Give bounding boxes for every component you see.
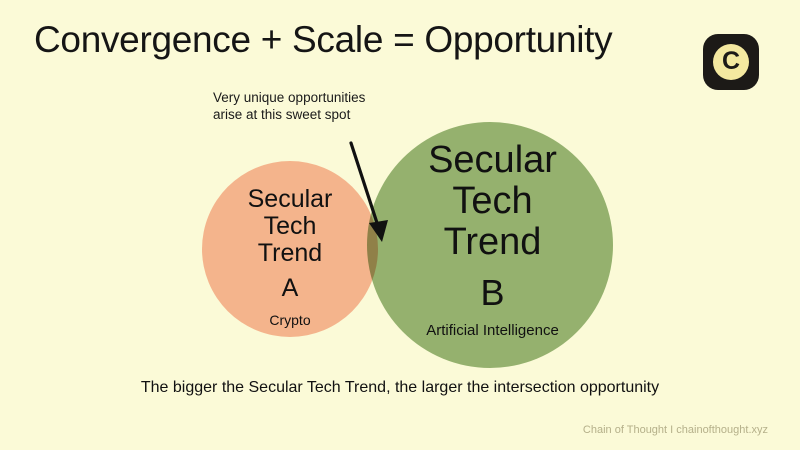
circle-a-letter: A [215,275,365,302]
logo-disc: C [713,44,749,80]
annotation-text: Very unique opportunities arise at this … [213,89,365,123]
circle-b-title: Secular Tech Trend [385,140,600,263]
circle-b-subtitle: Artificial Intelligence [385,322,600,340]
brand-logo-icon: C [703,34,759,90]
circle-b-labels: Secular Tech Trend B Artificial Intellig… [385,140,600,340]
circle-a-subtitle: Crypto [215,312,365,329]
annotation-arrow-icon [330,125,410,255]
footer-attribution: Chain of Thought I chainofthought.xyz [583,424,768,436]
slide-caption: The bigger the Secular Tech Trend, the l… [0,379,800,397]
circle-b-letter: B [385,273,600,312]
slide-canvas: Convergence + Scale = Opportunity C Secu… [0,0,800,450]
logo-letter: C [722,49,740,74]
page-title: Convergence + Scale = Opportunity [34,18,612,62]
